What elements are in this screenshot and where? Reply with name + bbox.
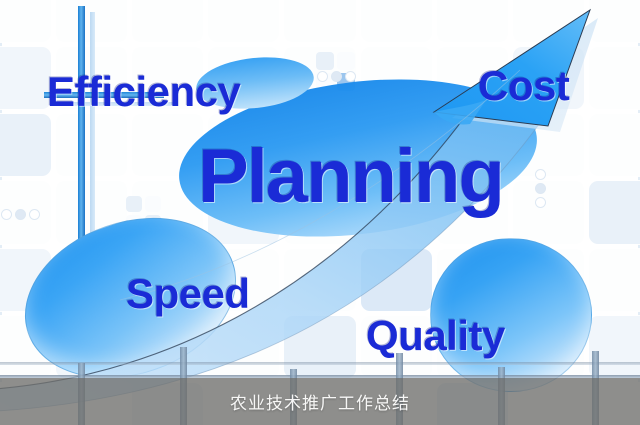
dot: [536, 170, 545, 179]
dot: [16, 210, 25, 219]
cluster-cell: [126, 196, 142, 212]
keyword-planning: Planning: [198, 133, 503, 220]
grid-tile: [589, 47, 640, 109]
dot-row: [318, 72, 355, 81]
keyword-efficiency: Efficiency: [47, 68, 240, 116]
grid-tile: [0, 0, 51, 42]
grid-tile: [437, 0, 508, 42]
keyword-speed: Speed: [126, 270, 250, 318]
caption-band: 农业技术推广工作总结: [0, 378, 640, 425]
dot: [536, 184, 545, 193]
dot: [536, 198, 545, 207]
banner-image: Efficiency Cost Planning Speed Quality 农…: [0, 0, 640, 425]
cluster-cell: [337, 52, 355, 70]
grid-tile: [361, 249, 432, 311]
grid-tile: [361, 0, 432, 42]
dot: [346, 72, 355, 81]
grid-tile: [132, 0, 203, 42]
dot: [318, 72, 327, 81]
dot: [30, 210, 39, 219]
dot: [2, 210, 11, 219]
grid-tile: [208, 0, 279, 42]
keyword-quality: Quality: [366, 312, 505, 360]
grid-tile: [513, 0, 584, 42]
grid-tile: [513, 181, 584, 243]
dot: [332, 72, 341, 81]
caption-text: 农业技术推广工作总结: [230, 389, 410, 414]
dot-row: [536, 170, 545, 207]
dot-row: [2, 210, 39, 219]
cluster-cell: [316, 52, 334, 70]
grid-tile: [589, 181, 640, 243]
grid-tile: [284, 0, 355, 42]
grid-tile: [589, 114, 640, 176]
cluster-cell: [145, 196, 161, 212]
grid-tile: [0, 114, 51, 176]
grid-tile: [0, 47, 51, 109]
bottom-rail-line: [0, 362, 640, 365]
grid-tile: [589, 249, 640, 311]
grid-tile: [589, 0, 640, 42]
keyword-cost: Cost: [478, 62, 569, 110]
grid-tile: [284, 249, 355, 311]
